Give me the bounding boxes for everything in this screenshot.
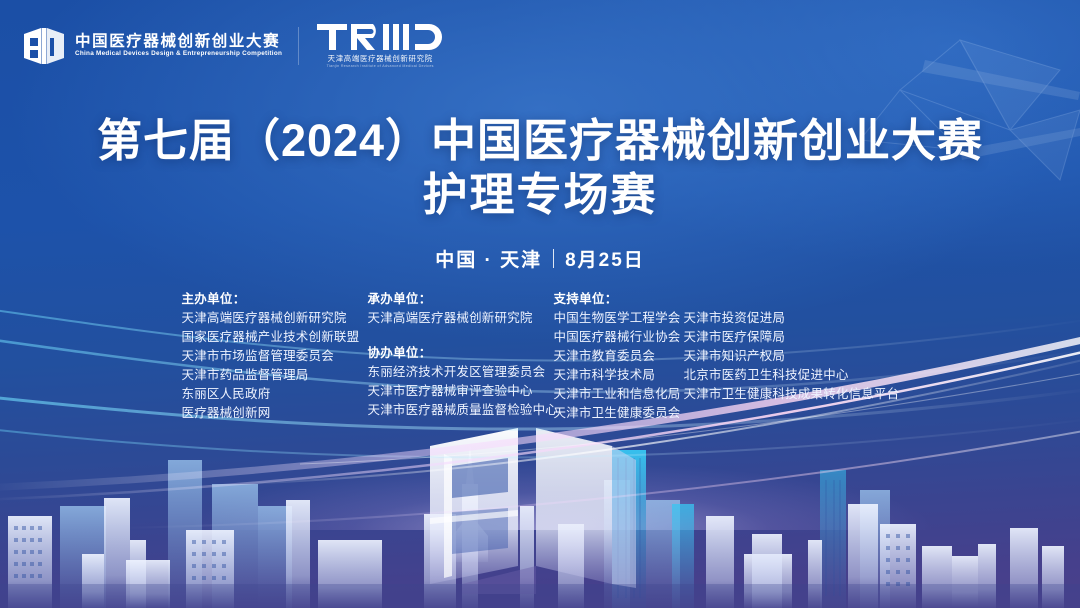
event-location: 中国 · 天津	[435, 245, 542, 272]
header-logo-bar: 中国医疗器械创新创业大赛 China Medical Devices Desig…	[22, 22, 443, 69]
organizer-group-heading: 承办单位：	[368, 290, 554, 309]
event-title-line2: 护理专场赛	[0, 170, 1080, 220]
organizer-group: 承办单位：天津高端医疗器械创新研究院	[368, 290, 554, 328]
event-title-line1: 第七届（2024）中国医疗器械创新创业大赛	[0, 116, 1080, 166]
organizer-item: 北京市医药卫生科技促进中心	[684, 366, 899, 385]
organizer-group: 协办单位：东丽经济技术开发区管理委员会天津市医疗器械审评查验中心天津市医疗器械质…	[368, 344, 554, 420]
horizon-glow	[0, 440, 1080, 530]
organizer-group-heading: 协办单位：	[368, 344, 554, 363]
event-poster: 中国医疗器械创新创业大赛 China Medical Devices Desig…	[0, 0, 1080, 608]
institute-logo-en: Tianjin Research Institute of Advanced M…	[327, 65, 434, 69]
organizer-item: 医疗器械创新网	[182, 404, 368, 423]
institute-logo-cn: 天津高端医疗器械创新研究院	[328, 55, 433, 62]
organizer-column-2: 承办单位：天津高端医疗器械创新研究院协办单位：东丽经济技术开发区管理委员会天津市…	[368, 290, 554, 420]
logo-divider	[298, 27, 299, 65]
organizer-item: 东丽区人民政府	[182, 385, 368, 404]
organizer-item: 天津高端医疗器械创新研究院	[368, 309, 554, 328]
trimd-wordmark-icon	[317, 22, 443, 52]
organizer-item: 天津市医疗器械质量监督检验中心	[368, 401, 554, 420]
organizer-group-heading: 主办单位：	[182, 290, 368, 309]
organizer-item: 天津市科学技术局	[554, 366, 684, 385]
organizer-item: 天津市工业和信息化局	[554, 385, 684, 404]
open-door-window-icon	[22, 26, 66, 66]
organizer-group: 支持单位：中国生物医学工程学会中国医疗器械行业协会天津市教育委员会天津市科学技术…	[554, 290, 684, 423]
organizer-item: 天津市卫生健康科技成果转化信息平台	[684, 385, 899, 404]
organizer-item: 天津市医疗保障局	[684, 328, 899, 347]
organizer-item: 天津市知识产权局	[684, 347, 899, 366]
organizer-item: 天津市卫生健康委员会	[554, 404, 684, 423]
organizer-item: 天津市教育委员会	[554, 347, 684, 366]
competition-logo-en: China Medical Devices Design & Entrepren…	[75, 51, 286, 57]
organizer-item: 天津市药品监督管理局	[182, 366, 368, 385]
meta-separator	[553, 249, 554, 268]
organizer-item: 国家医疗器械产业技术创新联盟	[182, 328, 368, 347]
title-block: 第七届（2024）中国医疗器械创新创业大赛 护理专场赛 中国 · 天津 8月25…	[0, 116, 1080, 272]
organizer-item: 东丽经济技术开发区管理委员会	[368, 363, 554, 382]
organizer-column-4: 天津市投资促进局天津市医疗保障局天津市知识产权局北京市医药卫生科技促进中心天津市…	[684, 290, 899, 404]
organizer-columns: 主办单位：天津高端医疗器械创新研究院国家医疗器械产业技术创新联盟天津市市场监督管…	[0, 290, 1080, 423]
organizer-group: 天津市投资促进局天津市医疗保障局天津市知识产权局北京市医药卫生科技促进中心天津市…	[684, 309, 899, 404]
event-meta: 中国 · 天津 8月25日	[0, 245, 1080, 272]
organizer-column-1: 主办单位：天津高端医疗器械创新研究院国家医疗器械产业技术创新联盟天津市市场监督管…	[182, 290, 368, 423]
event-date: 8月25日	[565, 245, 645, 272]
organizer-item: 中国生物医学工程学会	[554, 309, 684, 328]
organizer-item: 天津市医疗器械审评查验中心	[368, 382, 554, 401]
central-door-emblem	[430, 428, 636, 594]
organizer-item: 天津市投资促进局	[684, 309, 899, 328]
organizer-column-3: 支持单位：中国生物医学工程学会中国医疗器械行业协会天津市教育委员会天津市科学技术…	[554, 290, 684, 423]
organizer-item: 天津高端医疗器械创新研究院	[182, 309, 368, 328]
competition-logo-cn: 中国医疗器械创新创业大赛	[75, 34, 280, 50]
competition-logo: 中国医疗器械创新创业大赛 China Medical Devices Desig…	[22, 26, 280, 66]
organizer-group: 主办单位：天津高端医疗器械创新研究院国家医疗器械产业技术创新联盟天津市市场监督管…	[182, 290, 368, 423]
organizer-item: 天津市市场监督管理委员会	[182, 347, 368, 366]
organizer-group-heading: 支持单位：	[554, 290, 684, 309]
institute-logo: 天津高端医疗器械创新研究院 Tianjin Research Institute…	[317, 22, 443, 69]
organizer-item: 中国医疗器械行业协会	[554, 328, 684, 347]
